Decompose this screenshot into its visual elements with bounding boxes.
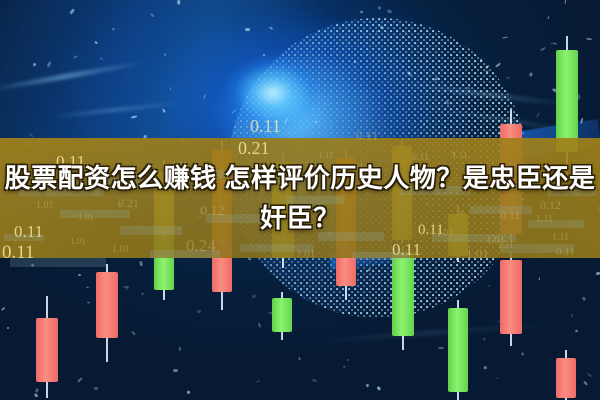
title-line-2: 奸臣？	[0, 198, 600, 238]
translucent-slab	[240, 244, 314, 252]
banner-image: 0.111.111.011.010.111.010.111.010.210.21…	[0, 0, 600, 400]
candlestick-body	[500, 260, 522, 334]
translucent-slab	[500, 244, 574, 253]
candlestick-body	[36, 318, 58, 382]
page-title: 股票配资怎么赚钱 怎样评价历史人物？是忠臣还是 奸臣？	[0, 158, 600, 238]
translucent-slab	[10, 258, 106, 267]
candlestick-body	[96, 272, 118, 338]
translucent-slab	[150, 250, 220, 258]
candlestick-body	[556, 358, 576, 398]
title-line-1: 股票配资怎么赚钱 怎样评价历史人物？是忠臣还是	[0, 158, 600, 198]
candlestick-body	[272, 298, 292, 332]
translucent-slab	[352, 252, 410, 260]
